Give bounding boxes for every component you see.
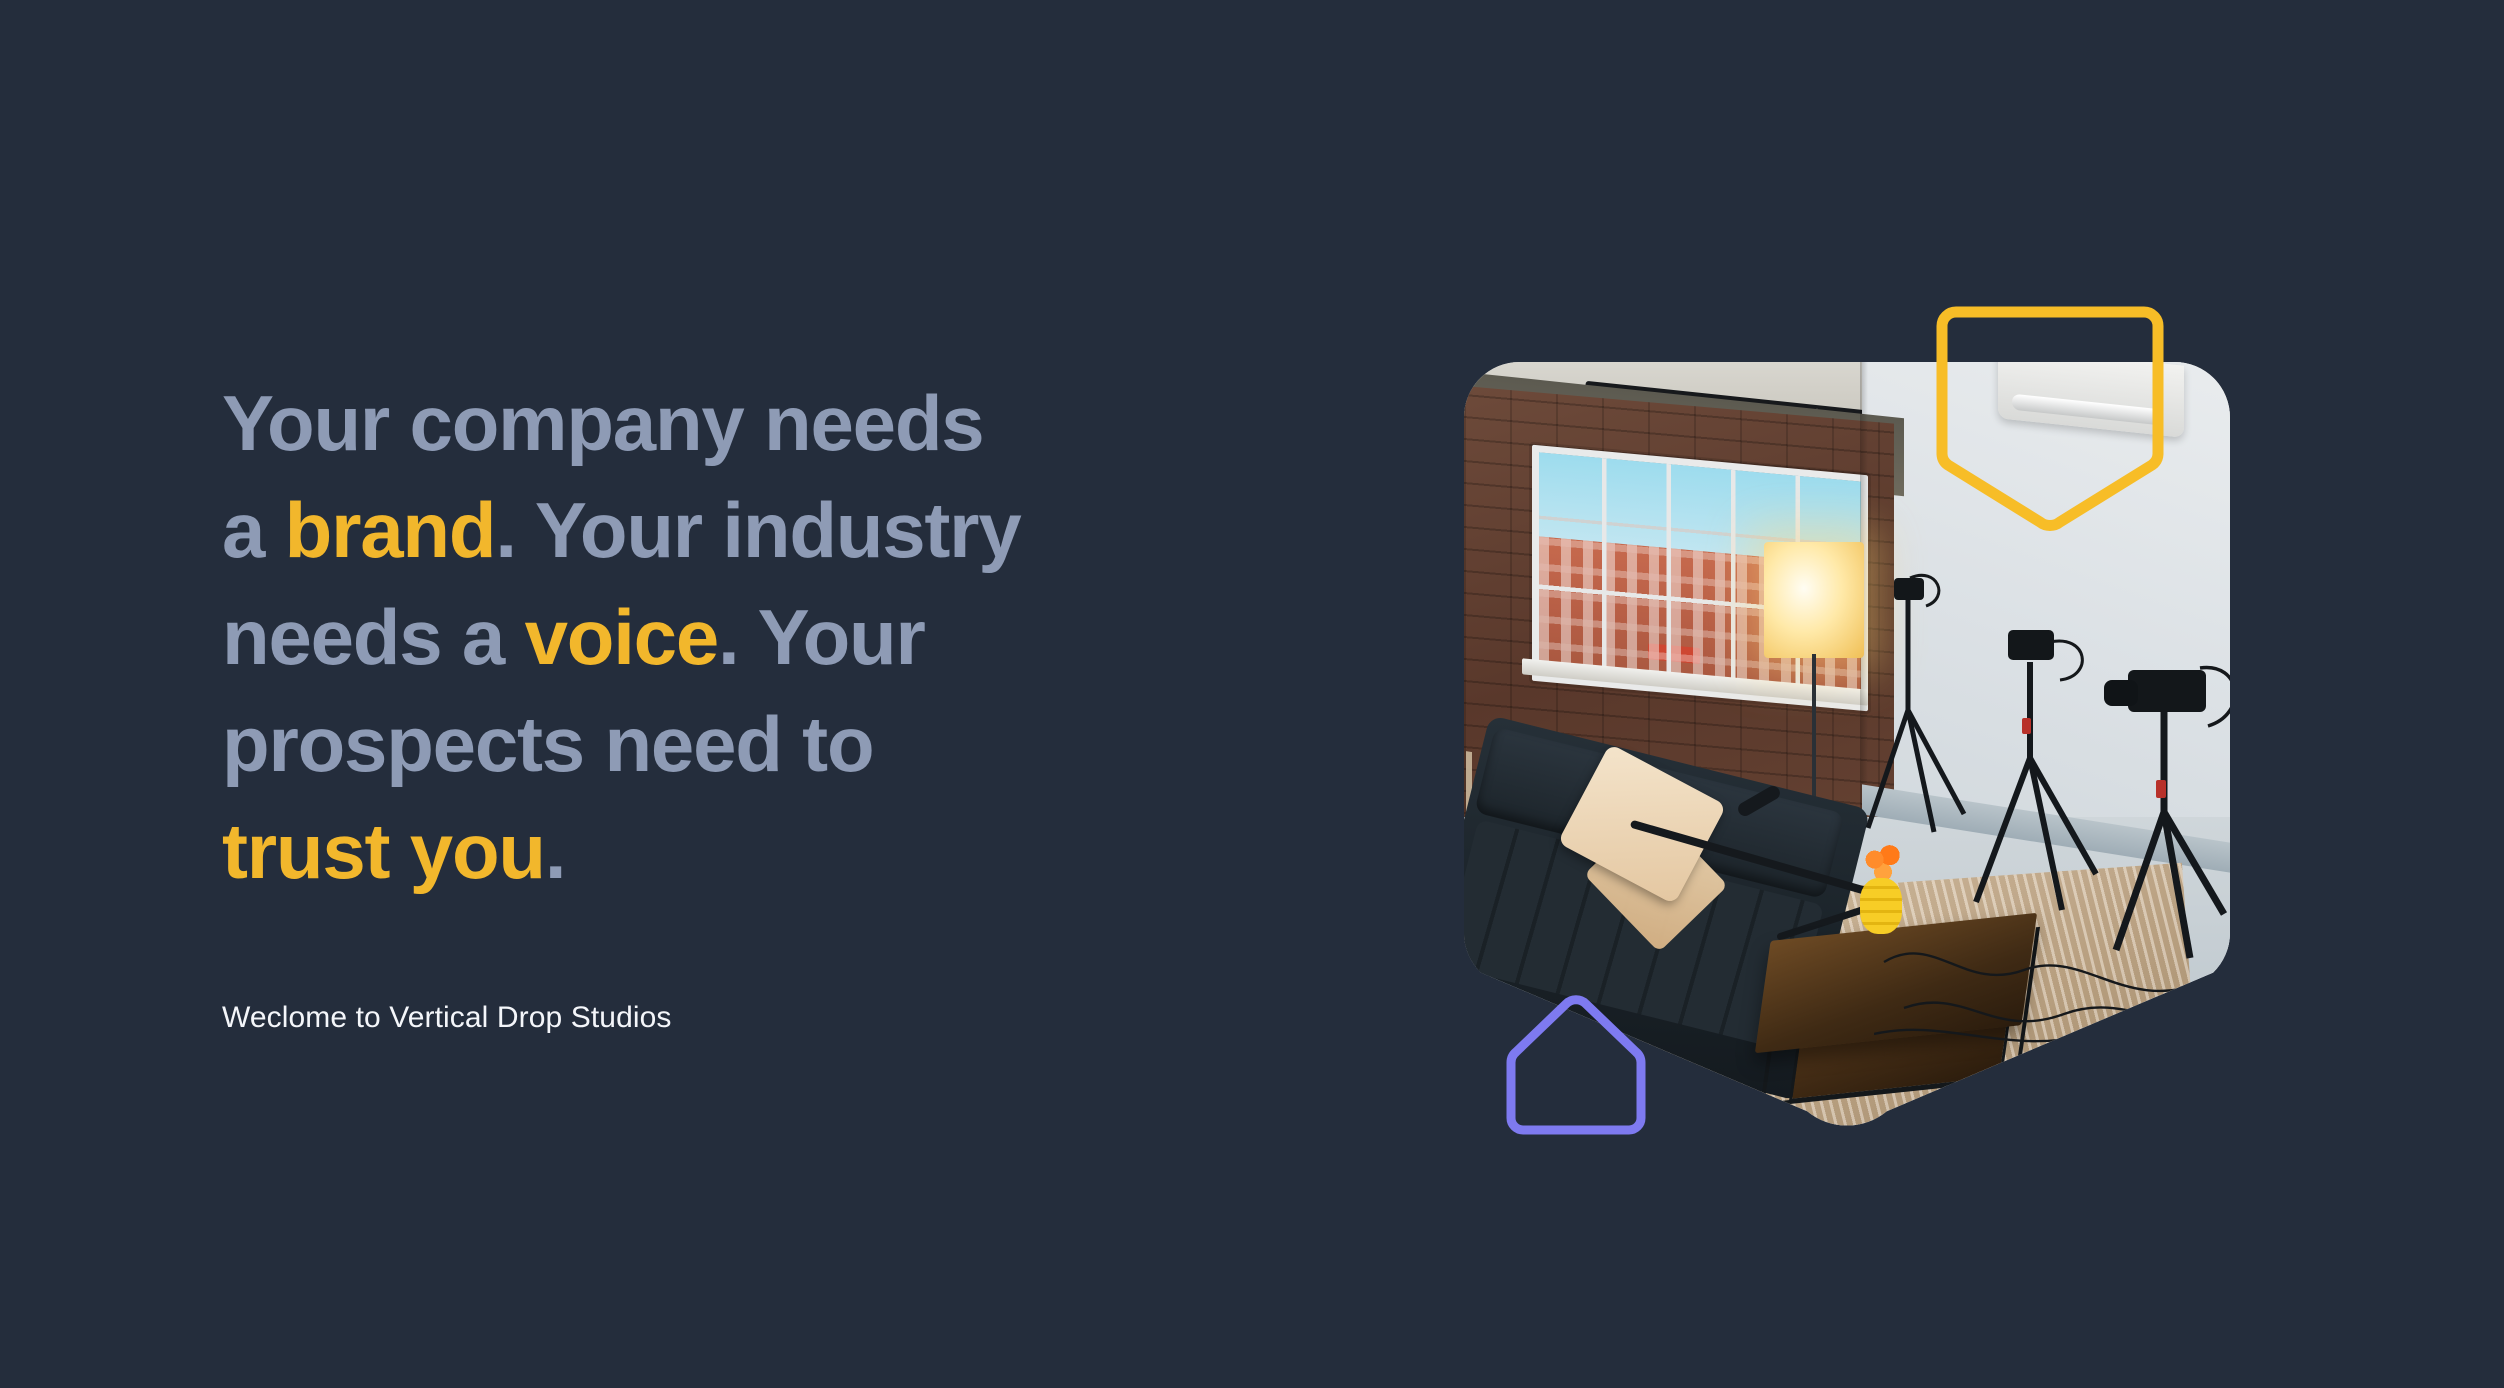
- decor-yellow-pin-icon: [1932, 302, 2168, 540]
- headline-line-3-prefix: needs a: [222, 593, 525, 681]
- decor-purple-pin-icon: [1500, 992, 1652, 1142]
- tripod-2: [1976, 662, 2096, 910]
- tripod-1: [1868, 600, 1964, 832]
- headline-accent-trust-you: trust you: [222, 807, 545, 895]
- tripod-3-lock: [2156, 780, 2166, 798]
- hero-section: Your company needs a brand. Your industr…: [0, 0, 2504, 1388]
- headline-line-4: prospects need to: [222, 700, 873, 788]
- tripod-1-camera: [1894, 578, 1924, 600]
- tripod-2-lock: [2022, 718, 2031, 734]
- tripod-2-cable: [2050, 641, 2082, 680]
- hero-subtitle: Weclome to Vertical Drop Studios: [222, 998, 672, 1038]
- tripod-2-camera: [2008, 630, 2054, 660]
- headline-line-2-prefix: a: [222, 486, 285, 574]
- headline-accent-brand: brand: [285, 486, 496, 574]
- hero-copy: Your company needs a brand. Your industr…: [222, 370, 1252, 905]
- headline-line-2-suffix: . Your industry: [495, 486, 1020, 574]
- tripod-3-lens: [2104, 680, 2138, 706]
- page-title: Your company needs a brand. Your industr…: [222, 370, 1252, 905]
- headline-line-1: Your company needs: [222, 379, 984, 467]
- headline-line-5-suffix: .: [545, 807, 565, 895]
- headline-line-3-suffix: . Your: [718, 593, 925, 681]
- headline-accent-voice: voice: [525, 593, 718, 681]
- tripod-3: [2116, 712, 2224, 958]
- tripod-3-camera-body: [2128, 670, 2206, 712]
